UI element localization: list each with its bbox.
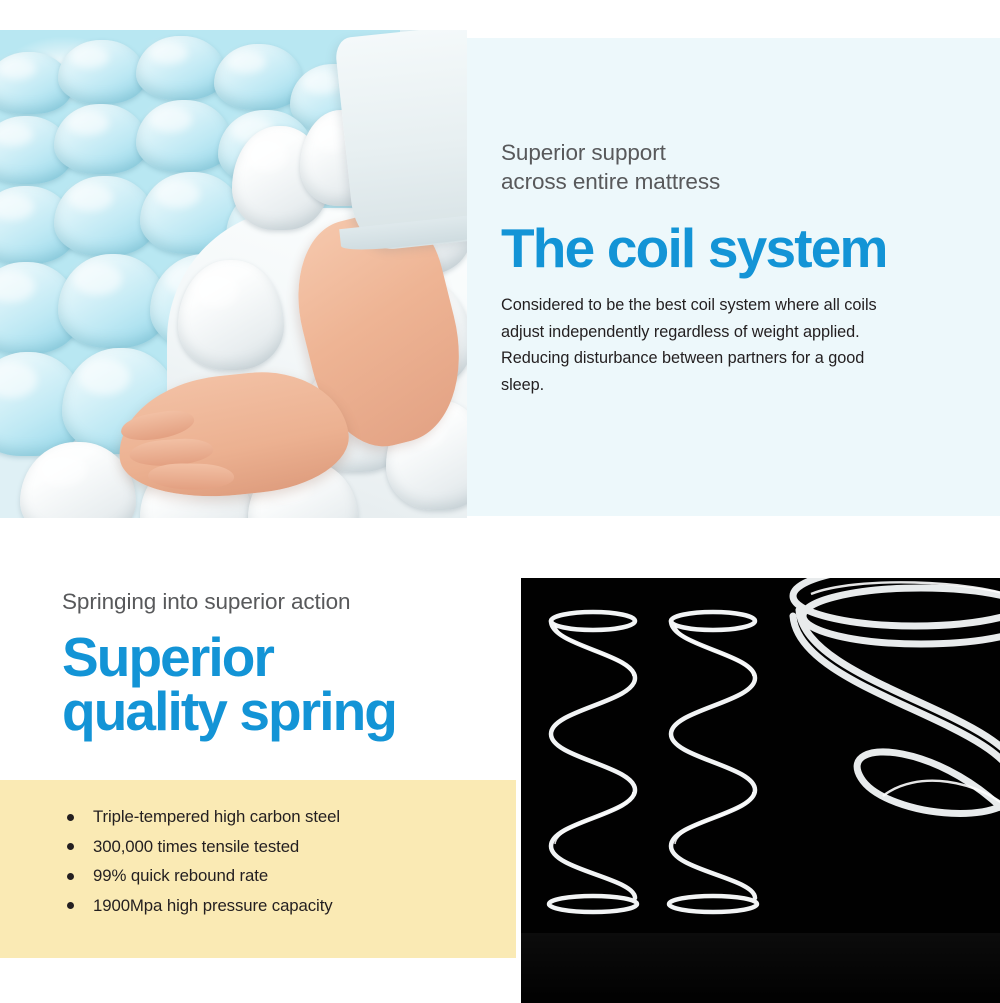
coil-system-subheading: Superior support across entire mattress [501, 138, 931, 196]
pocket-spring-hand-photo [0, 30, 467, 518]
list-item: 300,000 times tensile tested [67, 832, 340, 862]
list-item: 1900Mpa high pressure capacity [67, 891, 340, 921]
coil-system-headline: The coil system [501, 218, 931, 278]
superior-spring-text-block: Springing into superior action Superior … [62, 587, 502, 738]
list-item: Triple-tempered high carbon steel [67, 802, 340, 832]
top-section: Superior support across entire mattress … [0, 0, 1000, 545]
superior-spring-headline: Superior quality spring [62, 630, 502, 738]
coil-reflection [521, 933, 1000, 1003]
coil-spring-large [765, 578, 1000, 984]
coil-system-text-block: Superior support across entire mattress … [501, 138, 931, 398]
pocket-spring [54, 104, 148, 174]
pocket-spring [58, 40, 146, 104]
finger [148, 463, 234, 490]
coil-springs-dark-photo [521, 578, 1000, 1003]
coil-spring-small [663, 606, 763, 926]
coil-system-paragraph: Considered to be the best coil system wh… [501, 292, 889, 398]
spring-feature-list: Triple-tempered high carbon steel 300,00… [67, 802, 340, 920]
superior-spring-subheading: Springing into superior action [62, 587, 502, 616]
list-item: 99% quick rebound rate [67, 861, 340, 891]
bottom-section: Springing into superior action Superior … [0, 545, 1000, 1000]
feature-list-panel: Triple-tempered high carbon steel 300,00… [0, 780, 516, 958]
pocket-spring [136, 36, 226, 100]
coil-spring-small [543, 606, 643, 926]
